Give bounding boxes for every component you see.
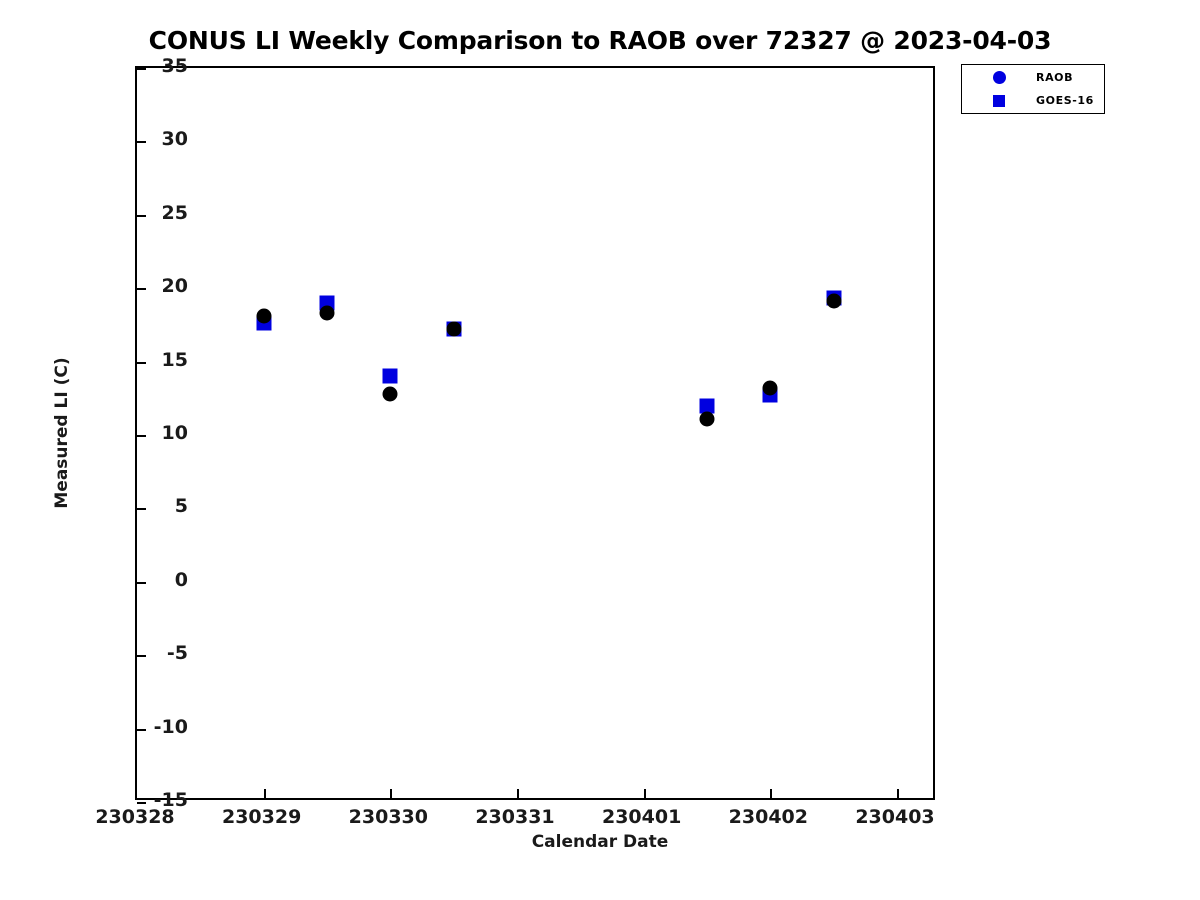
data-point-raob bbox=[383, 386, 398, 401]
y-tick-label: 20 bbox=[162, 275, 188, 297]
y-tick-label: 0 bbox=[175, 569, 188, 591]
data-point-raob bbox=[256, 309, 271, 324]
x-tick bbox=[390, 789, 392, 798]
chart-title: CONUS LI Weekly Comparison to RAOB over … bbox=[0, 26, 1200, 55]
y-tick bbox=[137, 508, 146, 510]
y-tick-label: 25 bbox=[162, 202, 188, 224]
x-tick bbox=[517, 789, 519, 798]
x-tick-label: 230401 bbox=[602, 806, 681, 828]
x-tick-label: 230329 bbox=[222, 806, 301, 828]
y-tick bbox=[137, 215, 146, 217]
y-tick bbox=[137, 362, 146, 364]
y-tick bbox=[137, 141, 146, 143]
y-axis-title: Measured LI (C) bbox=[52, 357, 72, 508]
y-tick bbox=[137, 582, 146, 584]
x-tick-label: 230403 bbox=[855, 806, 934, 828]
y-tick bbox=[137, 655, 146, 657]
legend-label-raob: RAOB bbox=[1036, 71, 1073, 84]
y-tick-label: 5 bbox=[175, 495, 188, 517]
legend-marker-circle-icon bbox=[962, 71, 1036, 84]
x-tick-label: 230402 bbox=[729, 806, 808, 828]
data-point-raob bbox=[763, 381, 778, 396]
y-tick bbox=[137, 435, 146, 437]
y-tick-label: 15 bbox=[162, 349, 188, 371]
x-tick bbox=[644, 789, 646, 798]
data-point-raob bbox=[700, 411, 715, 426]
legend-marker-square-icon bbox=[962, 95, 1036, 107]
data-point-raob bbox=[446, 322, 461, 337]
x-tick bbox=[897, 789, 899, 798]
legend-label-goes16: GOES-16 bbox=[1036, 94, 1094, 107]
y-tick bbox=[137, 288, 146, 290]
y-tick-label: -10 bbox=[154, 716, 188, 738]
y-tick bbox=[137, 68, 146, 70]
x-tick-label: 230331 bbox=[475, 806, 554, 828]
data-point-goes-16 bbox=[383, 369, 398, 384]
legend-item-goes16: GOES-16 bbox=[962, 90, 1106, 111]
y-tick bbox=[137, 802, 146, 804]
y-tick bbox=[137, 729, 146, 731]
x-axis-title: Calendar Date bbox=[0, 832, 1200, 852]
chart-figure: CONUS LI Weekly Comparison to RAOB over … bbox=[0, 0, 1200, 900]
y-tick-label: 35 bbox=[162, 55, 188, 77]
legend-item-raob: RAOB bbox=[962, 67, 1106, 88]
chart-legend: RAOB GOES-16 bbox=[961, 64, 1105, 114]
data-point-raob bbox=[320, 306, 335, 321]
data-point-raob bbox=[826, 294, 841, 309]
x-tick-label: 230328 bbox=[95, 806, 174, 828]
y-tick-label: -5 bbox=[167, 642, 188, 664]
x-tick-label: 230330 bbox=[349, 806, 428, 828]
y-tick-label: 10 bbox=[162, 422, 188, 444]
x-tick bbox=[770, 789, 772, 798]
plot-area bbox=[135, 66, 935, 800]
x-tick bbox=[264, 789, 266, 798]
y-tick-label: 30 bbox=[162, 128, 188, 150]
